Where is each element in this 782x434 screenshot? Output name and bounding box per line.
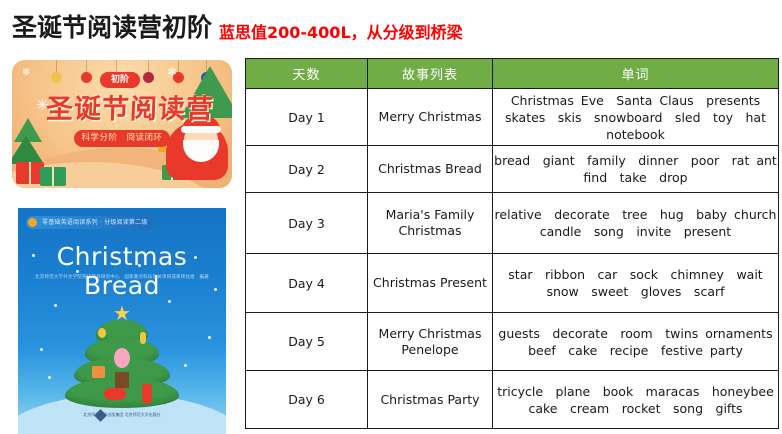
cell-day: Day 5 xyxy=(246,313,368,371)
table-row: Day 5 Merry Christmas Penelope guests de… xyxy=(246,313,779,371)
ornament-icon xyxy=(178,60,179,74)
column-header-story: 故事列表 xyxy=(368,59,493,89)
left-media-column: ✳ ❄ ❄ ❄ 初阶 圣诞节阅读营 科学分阶 阅读闭环 零基础 xyxy=(0,56,240,434)
schedule-table-container: 天数 故事列表 单词 Day 1 Merry Christmas Christm… xyxy=(245,58,778,429)
cell-words: tricycle plane book maracas honeybee cak… xyxy=(493,371,779,429)
cell-story: Christmas Bread xyxy=(368,146,493,193)
chain-ornament-icon xyxy=(140,332,146,344)
table-row: Day 3 Maria's Family Christmas relative … xyxy=(246,193,779,254)
column-header-words: 单词 xyxy=(493,59,779,89)
table-row: Day 6 Christmas Party tricycle plane boo… xyxy=(246,371,779,429)
ornament-icon xyxy=(148,60,149,74)
snowflake-icon: ❄ xyxy=(22,68,30,78)
page-subtitle: 蓝思值200-400L，从分级到桥梁 xyxy=(219,22,463,44)
table-header-row: 天数 故事列表 单词 xyxy=(246,59,779,89)
cell-day: Day 4 xyxy=(246,254,368,313)
ornament-icon xyxy=(86,60,87,74)
book-cover-image: 零基础英语阅读系列 · 分级阅读第二级 Christmas Bread 北京师范… xyxy=(18,208,226,434)
cell-story: Merry Christmas xyxy=(368,89,493,146)
cell-words: guests decorate room twins ornaments bee… xyxy=(493,313,779,371)
banner-title: 圣诞节阅读营 xyxy=(45,87,214,126)
cell-day: Day 6 xyxy=(246,371,368,429)
cell-story: Christmas Present xyxy=(368,254,493,313)
page-header: 圣诞节阅读营初阶 蓝思值200-400L，从分级到桥梁 xyxy=(0,0,782,56)
snowflake-icon: ❄ xyxy=(167,66,177,78)
cell-story: Merry Christmas Penelope xyxy=(368,313,493,371)
cell-day: Day 2 xyxy=(246,146,368,193)
banner-tagline: 科学分阶 阅读闭环 xyxy=(74,130,170,147)
bauble-icon xyxy=(114,348,130,368)
gift-box-icon xyxy=(92,366,105,378)
table-row: Day 2 Christmas Bread bread giant family… xyxy=(246,146,779,193)
santa-hat-brim xyxy=(181,126,221,133)
bell-icon xyxy=(98,328,106,338)
bow-icon xyxy=(104,388,126,400)
cell-story: Christmas Party xyxy=(368,371,493,429)
cell-story: Maria's Family Christmas xyxy=(368,193,493,254)
tree-trunk xyxy=(115,372,129,388)
cell-words: Christmas Eve Santa Claus presents skate… xyxy=(493,89,779,146)
page-title: 圣诞节阅读营初阶 xyxy=(12,13,212,43)
ornament-icon xyxy=(56,60,57,74)
promo-banner-image: ✳ ❄ ❄ ❄ 初阶 圣诞节阅读营 科学分阶 阅读闭环 xyxy=(12,60,232,188)
gift-box-icon xyxy=(40,167,66,186)
book-series-logo-icon xyxy=(28,218,37,227)
tree-icon xyxy=(12,136,44,164)
cell-day: Day 1 xyxy=(246,89,368,146)
schedule-table: 天数 故事列表 单词 Day 1 Merry Christmas Christm… xyxy=(245,58,779,429)
table-row: Day 1 Merry Christmas Christmas Eve Sant… xyxy=(246,89,779,146)
stocking-icon xyxy=(142,384,152,404)
table-row: Day 4 Christmas Present star ribbon car … xyxy=(246,254,779,313)
cell-day: Day 3 xyxy=(246,193,368,254)
book-series-banner: 零基础英语阅读系列 · 分级阅读第二级 xyxy=(26,216,154,229)
cell-words: bread giant family dinner poor rat ant f… xyxy=(493,146,779,193)
banner-level-badge: 初阶 xyxy=(100,72,140,88)
book-authors: 北京师范大学外文学院英语教育研究中心 国家重点科技攻关项目成果转化组 编著 xyxy=(18,274,226,280)
book-title: Christmas Bread xyxy=(18,242,226,300)
book-publisher: 北京师范大学出版集团 北京师范大学出版社 xyxy=(83,412,160,418)
cell-words: star ribbon car sock chimney wait snow s… xyxy=(493,254,779,313)
cell-words: relative decorate tree hug baby church c… xyxy=(493,193,779,254)
column-header-day: 天数 xyxy=(246,59,368,89)
